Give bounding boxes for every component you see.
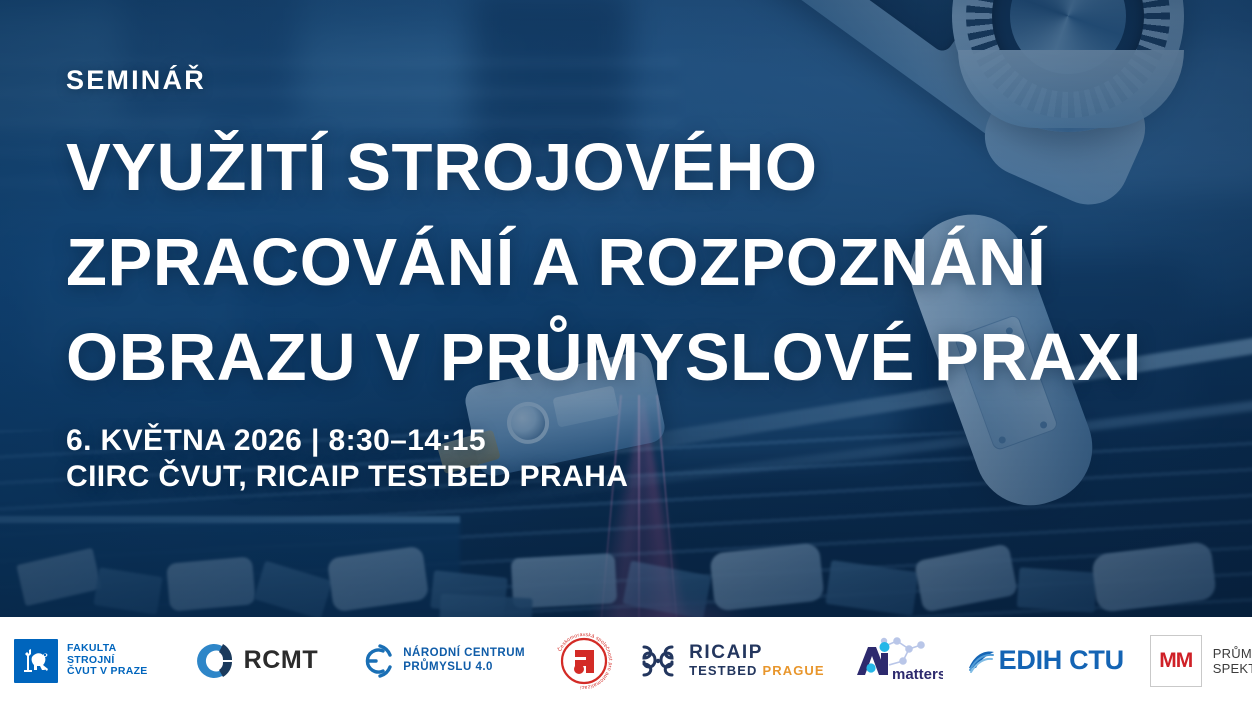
kicker-label: SEMINÁŘ (66, 65, 206, 96)
edih-label: EDIH CTU (999, 645, 1124, 676)
ncp-line-1: NÁRODNÍ CENTRUM (403, 647, 525, 661)
logo-cspa[interactable]: Českomoravská společnost pro automatizac… (553, 630, 615, 692)
logo-ricaip-testbed-prague[interactable]: RICAIP TESTBEDPRAGUE (637, 640, 825, 682)
ncp-spiral-icon (356, 642, 394, 680)
poster-text-block: SEMINÁŘ VYUŽITÍ STROJOVÉHO ZPRACOVÁNÍ A … (0, 0, 1252, 617)
edih-swoosh-icon (967, 646, 997, 676)
logo-mm-prumyslove-spektrum[interactable]: MM PRŮMYSLOVÉ SPEKTRUM (1150, 635, 1252, 687)
logo-ai-matters[interactable]: matters (851, 635, 943, 687)
ricaip-knot-icon (637, 640, 679, 682)
page-title: VYUŽITÍ STROJOVÉHO ZPRACOVÁNÍ A ROZPOZNÁ… (66, 120, 1186, 405)
seminar-poster: SEMINÁŘ VYUŽITÍ STROJOVÉHO ZPRACOVÁNÍ A … (0, 0, 1252, 704)
logo-narodni-centrum-prumyslu-40[interactable]: NÁRODNÍ CENTRUM PRŮMYSLU 4.0 (356, 642, 525, 680)
ricaip-testbed: TESTBED (689, 663, 757, 678)
logo-rcmt[interactable]: RCMT (192, 640, 319, 682)
logo-edih-ctu[interactable]: EDIH CTU (967, 645, 1124, 676)
ricaip-label: RICAIP TESTBEDPRAGUE (689, 643, 825, 679)
ricaip-prague: PRAGUE (762, 663, 824, 678)
mm-line-1: PRŮMYSLOVÉ (1213, 646, 1252, 661)
ai-network-icon: matters (851, 635, 943, 687)
event-venue: CIIRC ČVUT, RICAIP TESTBED PRAHA (66, 459, 628, 495)
mm-box-icon: MM (1150, 635, 1202, 687)
ncp-label: NÁRODNÍ CENTRUM PRŮMYSLU 4.0 (403, 647, 525, 674)
ctu-line-3: ČVUT V PRAZE (67, 666, 148, 678)
logo-fakulta-strojni-cvut[interactable]: FAKULTA STROJNÍ ČVUT V PRAZE (14, 639, 148, 683)
ctu-lion-icon (14, 639, 58, 683)
rcmt-c-icon (192, 640, 234, 682)
mm-line-2: SPEKTRUM (1213, 661, 1252, 676)
rcmt-label: RCMT (244, 646, 319, 675)
cspa-seal-icon: Českomoravská společnost pro automatizac… (553, 630, 615, 692)
partner-logo-bar: FAKULTA STROJNÍ ČVUT V PRAZE RCMT (0, 617, 1252, 704)
event-details: 6. KVĚTNA 2026 | 8:30–14:15 CIIRC ČVUT, … (66, 423, 628, 495)
ricaip-title: RICAIP (689, 643, 825, 663)
headline-line-2: ZPRACOVÁNÍ A ROZPOZNÁNÍ (66, 215, 1186, 310)
ricaip-subtitle: TESTBEDPRAGUE (689, 663, 825, 679)
ctu-label: FAKULTA STROJNÍ ČVUT V PRAZE (67, 643, 148, 678)
event-date: 6. KVĚTNA 2026 | 8:30–14:15 (66, 423, 628, 459)
mm-label: PRŮMYSLOVÉ SPEKTRUM (1213, 646, 1252, 676)
headline-line-1: VYUŽITÍ STROJOVÉHO (66, 120, 1186, 215)
headline-line-3: OBRAZU V PRŮMYSLOVÉ PRAXI (66, 310, 1186, 405)
ncp-line-2: PRŮMYSLU 4.0 (403, 661, 525, 675)
svg-text:matters: matters (892, 666, 943, 683)
mm-monogram: MM (1159, 649, 1192, 673)
